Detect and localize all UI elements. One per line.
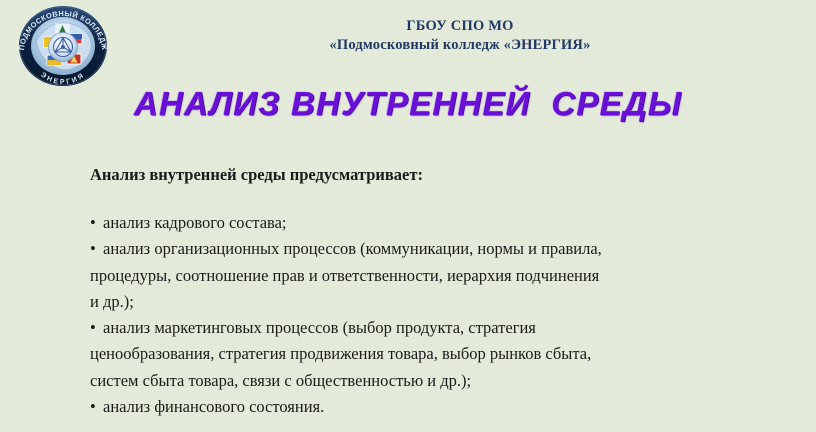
list-item: •анализ организационных процессов (комму… (90, 236, 790, 262)
page-title: АНАЛИЗ ВНУТРЕННЕЙ СРЕДЫ (0, 84, 816, 124)
institution-header-line-2: «Подмосковный колледж «ЭНЕРГИЯ» (120, 36, 800, 55)
bullet-icon: • (90, 210, 103, 236)
list-item-continuation: ценообразования, стратегия продвижения т… (90, 341, 790, 367)
college-emblem-icon: ПОДМОСКОВНЫЙ КОЛЛЕДЖ ЭНЕРГИЯ (11, 4, 115, 88)
list-item-text: анализ кадрового состава; (103, 213, 287, 232)
list-item-text: анализ финансового состояния. (103, 397, 324, 416)
slide-body: Анализ внутренней среды предусматривает:… (90, 164, 790, 420)
institution-header: ГБОУ СПО МО «Подмосковный колледж «ЭНЕРГ… (120, 17, 800, 55)
list-item-text: анализ организационных процессов (коммун… (103, 239, 602, 258)
list-item-continuation: и др.); (90, 289, 790, 315)
list-item: •анализ маркетинговых процессов (выбор п… (90, 315, 790, 341)
list-item-continuation: систем сбыта товара, связи с общественно… (90, 368, 790, 394)
slide-canvas: ПОДМОСКОВНЫЙ КОЛЛЕДЖ ЭНЕРГИЯ ГБОУ СПО МО… (0, 0, 816, 432)
list-item: •анализ финансового состояния. (90, 394, 790, 420)
bullet-icon: • (90, 236, 103, 262)
list-item-continuation: процедуры, соотношение прав и ответствен… (90, 263, 790, 289)
bullet-icon: • (90, 394, 103, 420)
bullet-icon: • (90, 315, 103, 341)
list-item-text: анализ маркетинговых процессов (выбор пр… (103, 318, 536, 337)
list-item: •анализ кадрового состава; (90, 210, 790, 236)
institution-header-line-1: ГБОУ СПО МО (120, 17, 800, 36)
body-lead-text: Анализ внутренней среды предусматривает: (90, 164, 790, 186)
